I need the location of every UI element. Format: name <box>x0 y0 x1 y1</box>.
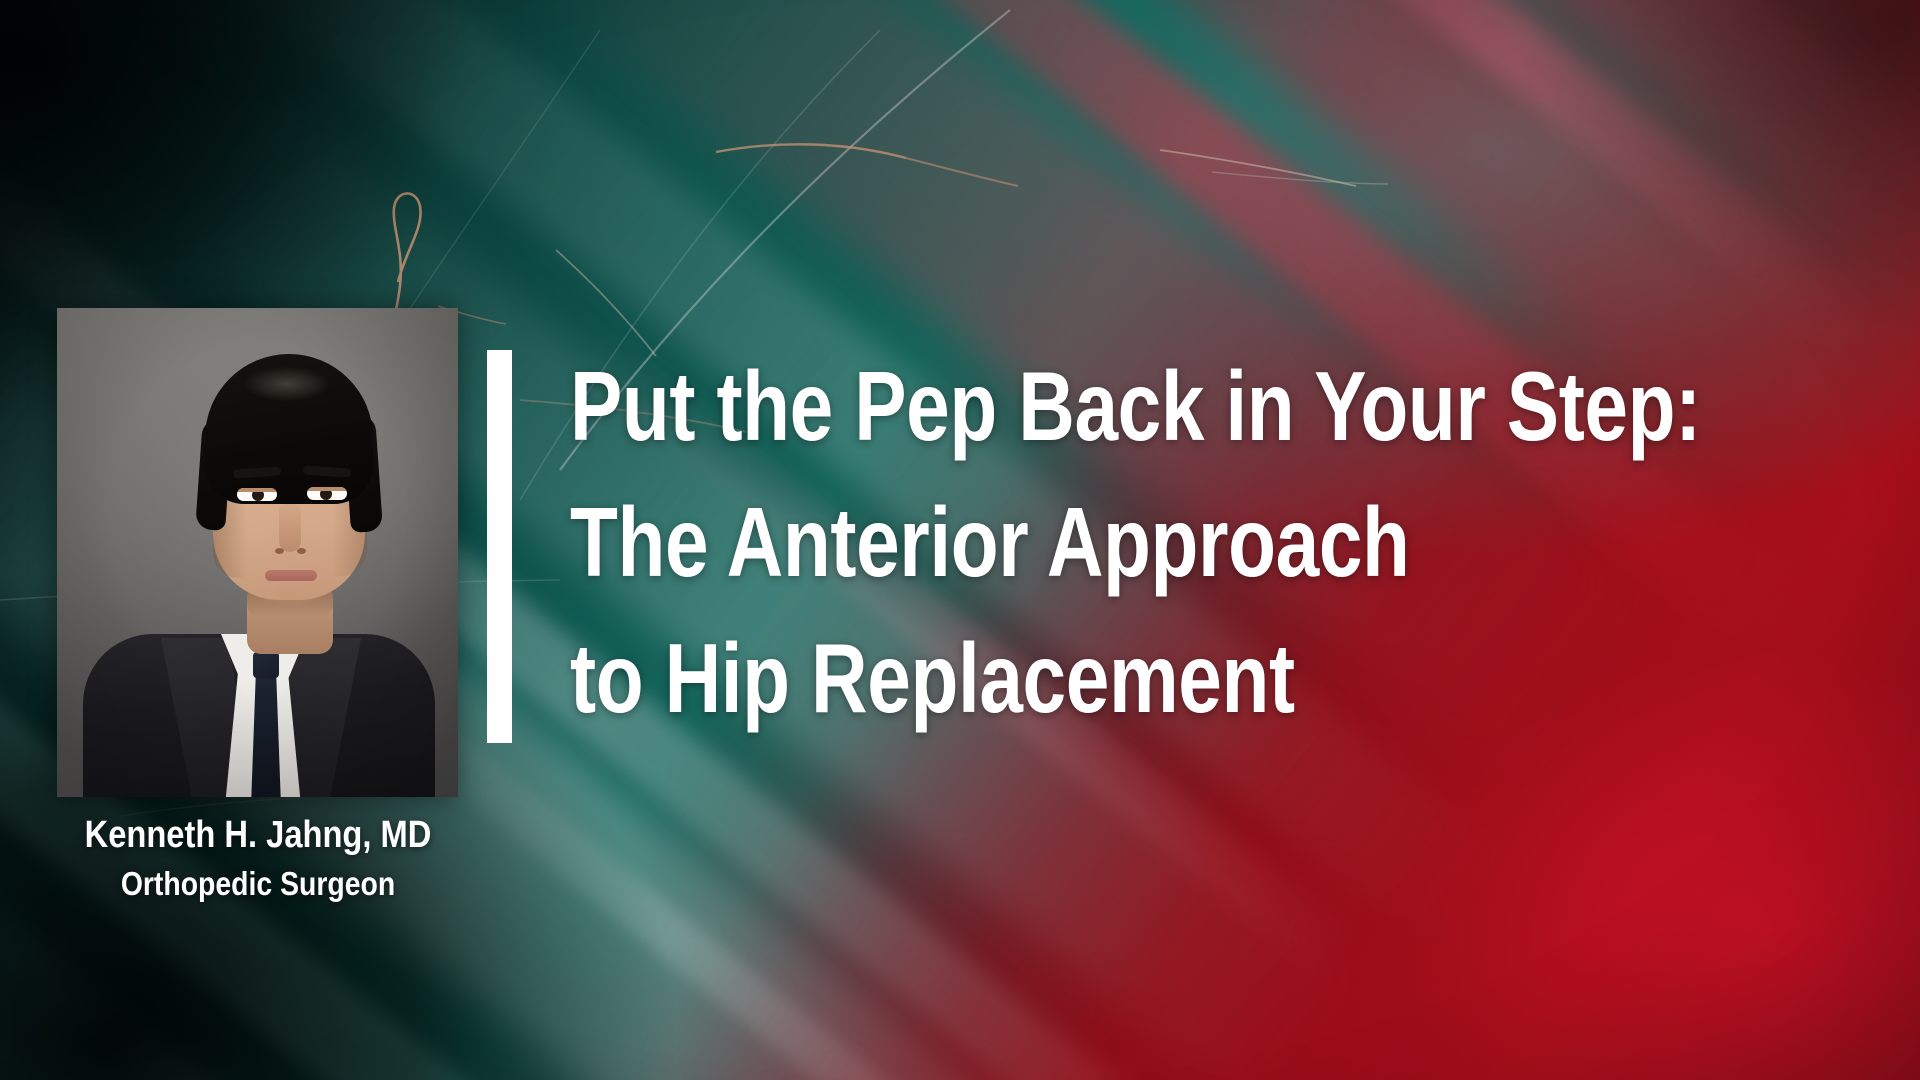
title-accent-bar <box>487 350 512 743</box>
speaker-credit: Kenneth H. Jahng, MD Orthopedic Surgeon <box>30 810 486 908</box>
title-line-2: The Anterior Approach <box>570 474 1602 610</box>
title-line-3: to Hip Replacement <box>570 610 1602 746</box>
avatar <box>57 308 458 797</box>
title-line-1: Put the Pep Back in Your Step: <box>570 338 1602 474</box>
speaker-role: Orthopedic Surgeon <box>62 860 454 908</box>
page-title: Put the Pep Back in Your Step: The Anter… <box>570 338 1860 746</box>
speaker-name: Kenneth H. Jahng, MD <box>62 810 454 860</box>
presentation-slide: Put the Pep Back in Your Step: The Anter… <box>0 0 1920 1080</box>
headshot-vignette <box>57 308 458 797</box>
